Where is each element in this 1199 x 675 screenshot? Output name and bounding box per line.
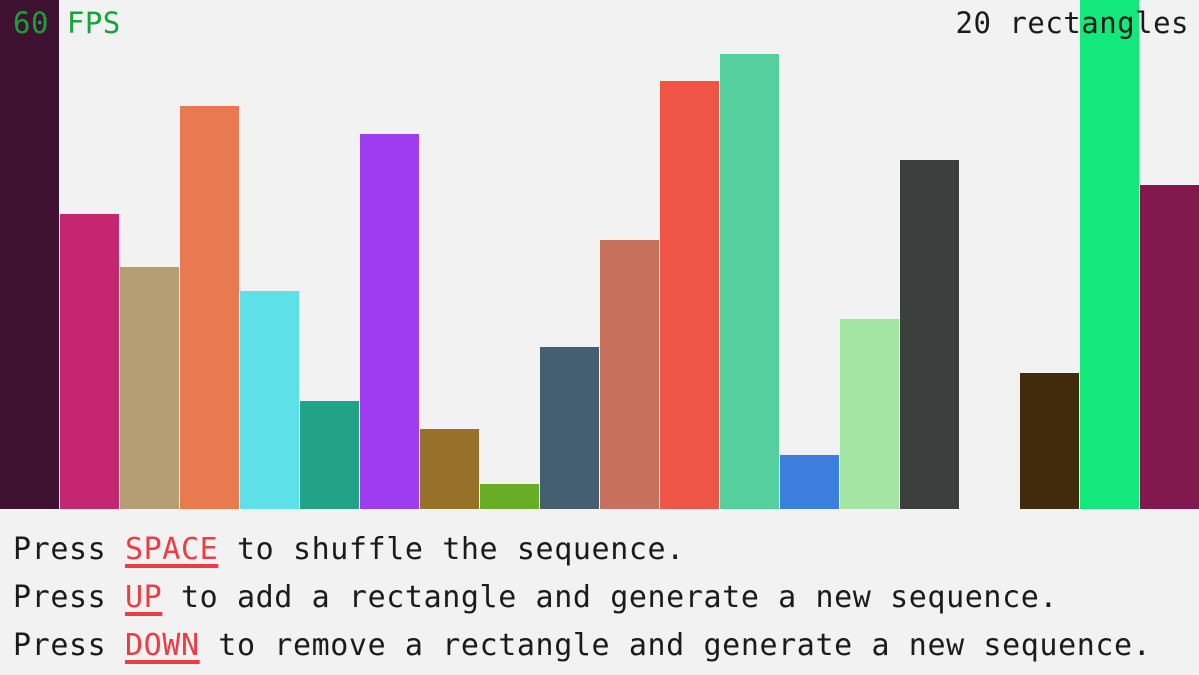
key-space[interactable]: SPACE xyxy=(125,532,218,567)
rectangle-count-label: 20 rectangles xyxy=(956,9,1189,38)
instruction-line-3: Press DOWN to remove a rectangle and gen… xyxy=(13,622,1199,670)
bar-5 xyxy=(240,291,299,509)
bar-12 xyxy=(660,81,719,509)
instruction-suffix: to remove a rectangle and generate a new… xyxy=(200,628,1152,663)
instruction-line-2: Press UP to add a rectangle and generate… xyxy=(13,574,1199,622)
key-down[interactable]: DOWN xyxy=(125,628,200,663)
instruction-prefix: Press xyxy=(13,580,125,615)
bar-3 xyxy=(120,267,179,509)
bar-4 xyxy=(180,106,239,509)
bar-6 xyxy=(300,401,359,509)
bar-chart xyxy=(0,0,1199,509)
fps-counter: 60 FPS xyxy=(13,9,121,38)
bar-14 xyxy=(780,455,839,509)
bar-10 xyxy=(540,347,599,509)
bar-9 xyxy=(480,484,539,509)
bar-16 xyxy=(900,160,959,509)
bar-8 xyxy=(420,429,479,509)
instruction-prefix: Press xyxy=(13,628,125,663)
key-up[interactable]: UP xyxy=(125,580,162,615)
instruction-suffix: to add a rectangle and generate a new se… xyxy=(162,580,1058,615)
bar-20 xyxy=(1140,185,1199,509)
bar-2 xyxy=(60,214,119,509)
bar-18 xyxy=(1020,373,1079,509)
instructions-panel: Press SPACE to shuffle the sequence.Pres… xyxy=(0,509,1199,675)
instruction-line-1: Press SPACE to shuffle the sequence. xyxy=(13,526,1199,574)
bar-15 xyxy=(840,319,899,509)
instruction-suffix: to shuffle the sequence. xyxy=(218,532,685,567)
bar-7 xyxy=(360,134,419,509)
instruction-prefix: Press xyxy=(13,532,125,567)
bar-1 xyxy=(0,0,59,509)
bar-11 xyxy=(600,240,659,509)
bar-19 xyxy=(1080,0,1139,509)
rectangle-sequence-app: 60 FPS 20 rectangles Press SPACE to shuf… xyxy=(0,0,1199,675)
bar-13 xyxy=(720,54,779,509)
